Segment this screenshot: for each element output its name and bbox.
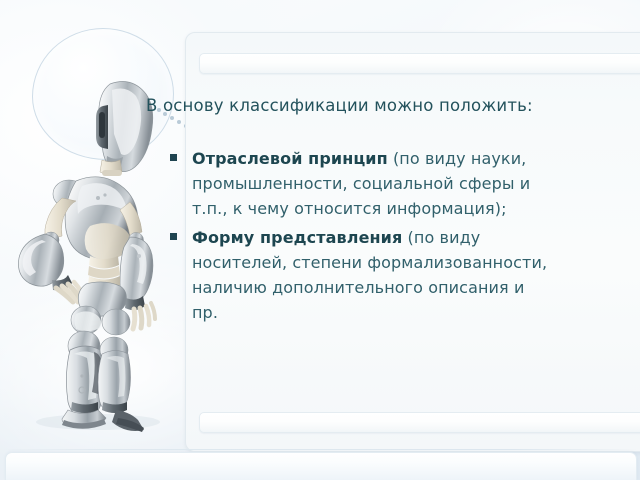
panel-decorative-bar-bottom	[199, 412, 640, 433]
list-item: Отраслевой принцип (по виду науки, промы…	[170, 146, 550, 221]
bullet-list: Отраслевой принцип (по виду науки, промы…	[170, 146, 550, 325]
square-bullet-icon	[170, 154, 177, 161]
bottom-decorative-band	[5, 452, 637, 480]
bullet-term: Форму представления	[192, 228, 402, 247]
panel-decorative-bar-top	[199, 53, 640, 74]
bottom-divider	[0, 449, 640, 450]
slide-heading: В основу классификации можно положить:	[146, 96, 640, 116]
slide-text-block: В основу классификации можно положить: О…	[146, 96, 640, 329]
square-bullet-icon	[170, 233, 177, 240]
presentation-slide: В основу классификации можно положить: О…	[0, 0, 640, 480]
list-item: Форму представления (по виду носителей, …	[170, 225, 550, 325]
bullet-term: Отраслевой принцип	[192, 149, 388, 168]
